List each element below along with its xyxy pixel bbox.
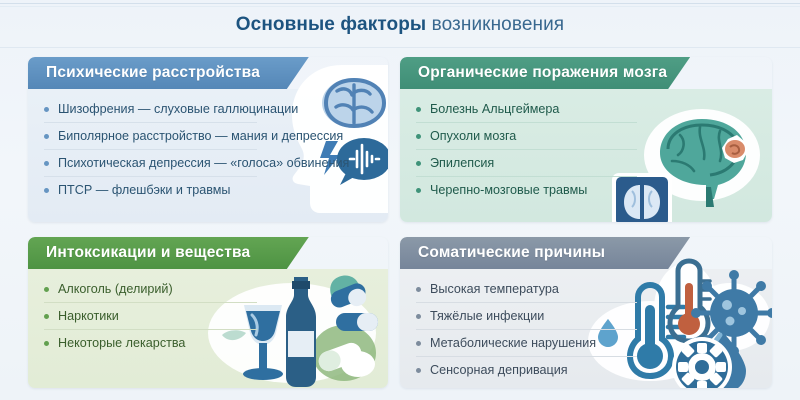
list-item-label: Черепно-мозговые травмы: [430, 184, 587, 197]
list-item: Высокая температура: [416, 276, 772, 303]
bullet-dot-icon: [416, 287, 421, 292]
card-header-somatic: Соматические причины: [400, 237, 772, 269]
list-item-label: Тяжёлые инфекции: [430, 310, 544, 323]
bullet-dot-icon: [416, 107, 421, 112]
bullet-list-mental: Шизофрения — слуховые галлюцинации Бипол…: [28, 89, 388, 204]
bullet-dot-icon: [416, 314, 421, 319]
bullet-dot-icon: [416, 368, 421, 373]
title-divider: [0, 47, 800, 48]
card-header-organic: Органические поражения мозга: [400, 57, 772, 89]
card-body-intoxication: Алкоголь (делирий) Наркотики Некоторые л…: [28, 269, 388, 388]
bullet-dot-icon: [416, 134, 421, 139]
bullet-dot-icon: [44, 314, 49, 319]
card-header-mental: Психические расстройства: [28, 57, 388, 89]
list-item-label: Сенсорная депривация: [430, 364, 568, 377]
page-title-strong: Основные факторы: [236, 14, 426, 35]
card-header-intoxication: Интоксикации и вещества: [28, 237, 388, 269]
list-item-label: Психотическая депрессия — «голоса» обвин…: [58, 157, 349, 170]
list-item: Опухоли мозга: [416, 123, 772, 150]
bullet-dot-icon: [44, 161, 49, 166]
page-title: Основные факторы возникновения: [0, 14, 800, 36]
list-item-label: Шизофрения — слуховые галлюцинации: [58, 103, 298, 116]
list-item-label: Биполярное расстройство — мания и депрес…: [58, 130, 343, 143]
list-item-label: Опухоли мозга: [430, 130, 516, 143]
bullet-dot-icon: [44, 134, 49, 139]
list-item: Метаболические нарушения: [416, 330, 772, 357]
infographic-page: Основные факторы возникновения Психическ…: [0, 0, 800, 400]
bullet-dot-icon: [416, 341, 421, 346]
list-item-label: Болезнь Альцгеймера: [430, 103, 559, 116]
list-item-label: ПТСР — флешбэки и травмы: [58, 184, 230, 197]
list-item: Эпилепсия: [416, 150, 772, 177]
card-intoxication-substances[interactable]: Интоксикации и вещества: [28, 237, 388, 388]
bullet-dot-icon: [44, 107, 49, 112]
card-title-mental: Психические расстройства: [28, 64, 260, 82]
list-item-label: Эпилепсия: [430, 157, 494, 170]
list-item: Биполярное расстройство — мания и депрес…: [44, 123, 388, 150]
list-item: Психотическая депрессия — «голоса» обвин…: [44, 150, 388, 177]
card-body-somatic: Высокая температура Тяжёлые инфекции Мет…: [400, 269, 772, 388]
list-item: ПТСР — флешбэки и травмы: [44, 177, 388, 204]
bullet-dot-icon: [44, 188, 49, 193]
card-body-organic: Болезнь Альцгеймера Опухоли мозга Эпилеп…: [400, 89, 772, 222]
list-item-label: Высокая температура: [430, 283, 559, 296]
list-item-label: Некоторые лекарства: [58, 337, 185, 350]
cards-grid: Психические расстройства Шизофрения: [28, 57, 772, 388]
list-item-label: Алкоголь (делирий): [58, 283, 173, 296]
card-title-somatic: Соматические причины: [400, 244, 605, 262]
list-item: Алкоголь (делирий): [44, 276, 388, 303]
list-item: Наркотики: [44, 303, 388, 330]
bullet-list-organic: Болезнь Альцгеймера Опухоли мозга Эпилеп…: [400, 89, 772, 204]
card-title-intoxication: Интоксикации и вещества: [28, 244, 250, 262]
list-item: Тяжёлые инфекции: [416, 303, 772, 330]
top-divider-secondary: [0, 6, 800, 7]
page-title-light: возникновения: [432, 14, 565, 35]
card-mental-disorders[interactable]: Психические расстройства Шизофрения: [28, 57, 388, 222]
card-body-mental: Шизофрения — слуховые галлюцинации Бипол…: [28, 89, 388, 222]
list-item-label: Наркотики: [58, 310, 119, 323]
list-item-label: Метаболические нарушения: [430, 337, 596, 350]
list-item: Шизофрения — слуховые галлюцинации: [44, 96, 388, 123]
bullet-dot-icon: [416, 161, 421, 166]
list-item: Сенсорная депривация: [416, 357, 772, 384]
card-title-organic: Органические поражения мозга: [400, 64, 667, 82]
list-item: Черепно-мозговые травмы: [416, 177, 772, 204]
top-divider: [0, 3, 800, 4]
bullet-dot-icon: [416, 188, 421, 193]
bullet-dot-icon: [44, 341, 49, 346]
bullet-list-somatic: Высокая температура Тяжёлые инфекции Мет…: [400, 269, 772, 384]
bullet-list-intoxication: Алкоголь (делирий) Наркотики Некоторые л…: [28, 269, 388, 357]
card-organic-brain-damage[interactable]: Органические поражения мозга: [400, 57, 772, 222]
bullet-dot-icon: [44, 287, 49, 292]
list-item: Болезнь Альцгеймера: [416, 96, 772, 123]
list-item: Некоторые лекарства: [44, 330, 388, 357]
card-somatic-causes[interactable]: Соматические причины: [400, 237, 772, 388]
